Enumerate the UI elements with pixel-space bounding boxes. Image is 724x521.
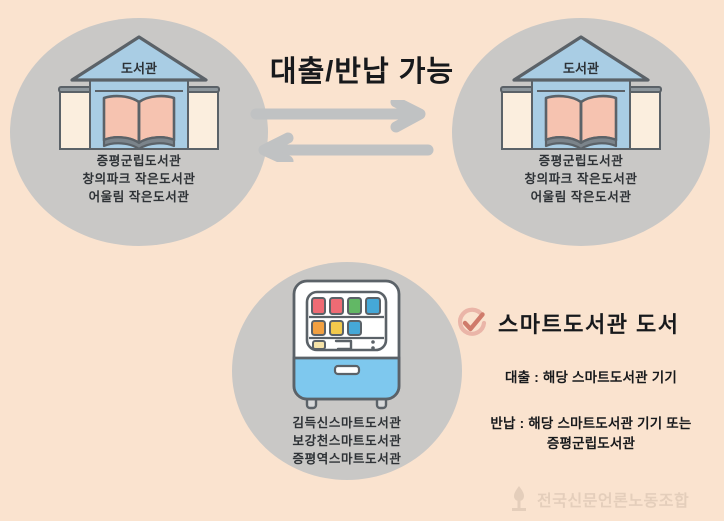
- smart-library-heading-row: 스마트도서관 도서: [455, 306, 724, 340]
- arrow-right-icon: [256, 102, 420, 127]
- smart-return-line-1: 반납 : 해당 스마트도서관 기기 또는: [455, 414, 724, 434]
- building-sign-label: 도서관: [59, 58, 219, 77]
- caption-line: 증평역스마트도서관: [232, 450, 462, 468]
- union-torch-icon: [508, 484, 530, 514]
- smart-library-kiosk-icon: [281, 278, 413, 410]
- smart-library-caption: 김득신스마트도서관 보강천스마트도서관 증평역스마트도서관: [232, 414, 462, 468]
- check-circle-icon: [455, 306, 489, 340]
- smart-return-line-2: 증평군립도서관: [455, 434, 724, 454]
- caption-line: 창의파크 작은도서관: [10, 170, 268, 188]
- caption-line: 어울림 작은도서관: [452, 188, 710, 206]
- bidirectional-arrows: [248, 100, 436, 162]
- right-library-caption: 증평군립도서관 창의파크 작은도서관 어울림 작은도서관: [452, 152, 710, 206]
- caption-line: 보강천스마트도서관: [232, 432, 462, 450]
- caption-line: 김득신스마트도서관: [232, 414, 462, 432]
- exchange-title: 대출/반납 가능: [238, 48, 486, 90]
- smart-library-heading: 스마트도서관 도서: [498, 307, 680, 339]
- right-library-building-icon: 도서관: [501, 36, 661, 154]
- smart-loan-line: 대출 : 해당 스마트도서관 기기: [455, 368, 724, 388]
- smart-library-info-block: 스마트도서관 도서 대출 : 해당 스마트도서관 기기 반납 : 해당 스마트도…: [455, 306, 724, 454]
- left-library-caption: 증평군립도서관 창의파크 작은도서관 어울림 작은도서관: [10, 152, 268, 206]
- caption-line: 어울림 작은도서관: [10, 188, 268, 206]
- caption-line: 증평군립도서관: [10, 152, 268, 170]
- caption-line: 창의파크 작은도서관: [452, 170, 710, 188]
- caption-line: 증평군립도서관: [452, 152, 710, 170]
- watermark-text: 전국신문언론노동조합: [537, 487, 689, 511]
- left-library-building-icon: 도서관: [59, 36, 219, 154]
- building-sign-label: 도서관: [501, 58, 661, 77]
- arrow-left-icon: [264, 138, 428, 161]
- smart-return-line: 반납 : 해당 스마트도서관 기기 또는 증평군립도서관: [455, 414, 724, 454]
- watermark: 전국신문언론노동조합: [508, 484, 689, 514]
- infographic-canvas: 도서관 증평군립도서관 창의파크 작은도서관 어울림 작은도서관 대출/반납 가…: [0, 0, 724, 521]
- open-book-icon: [99, 92, 179, 150]
- open-book-icon: [541, 92, 621, 150]
